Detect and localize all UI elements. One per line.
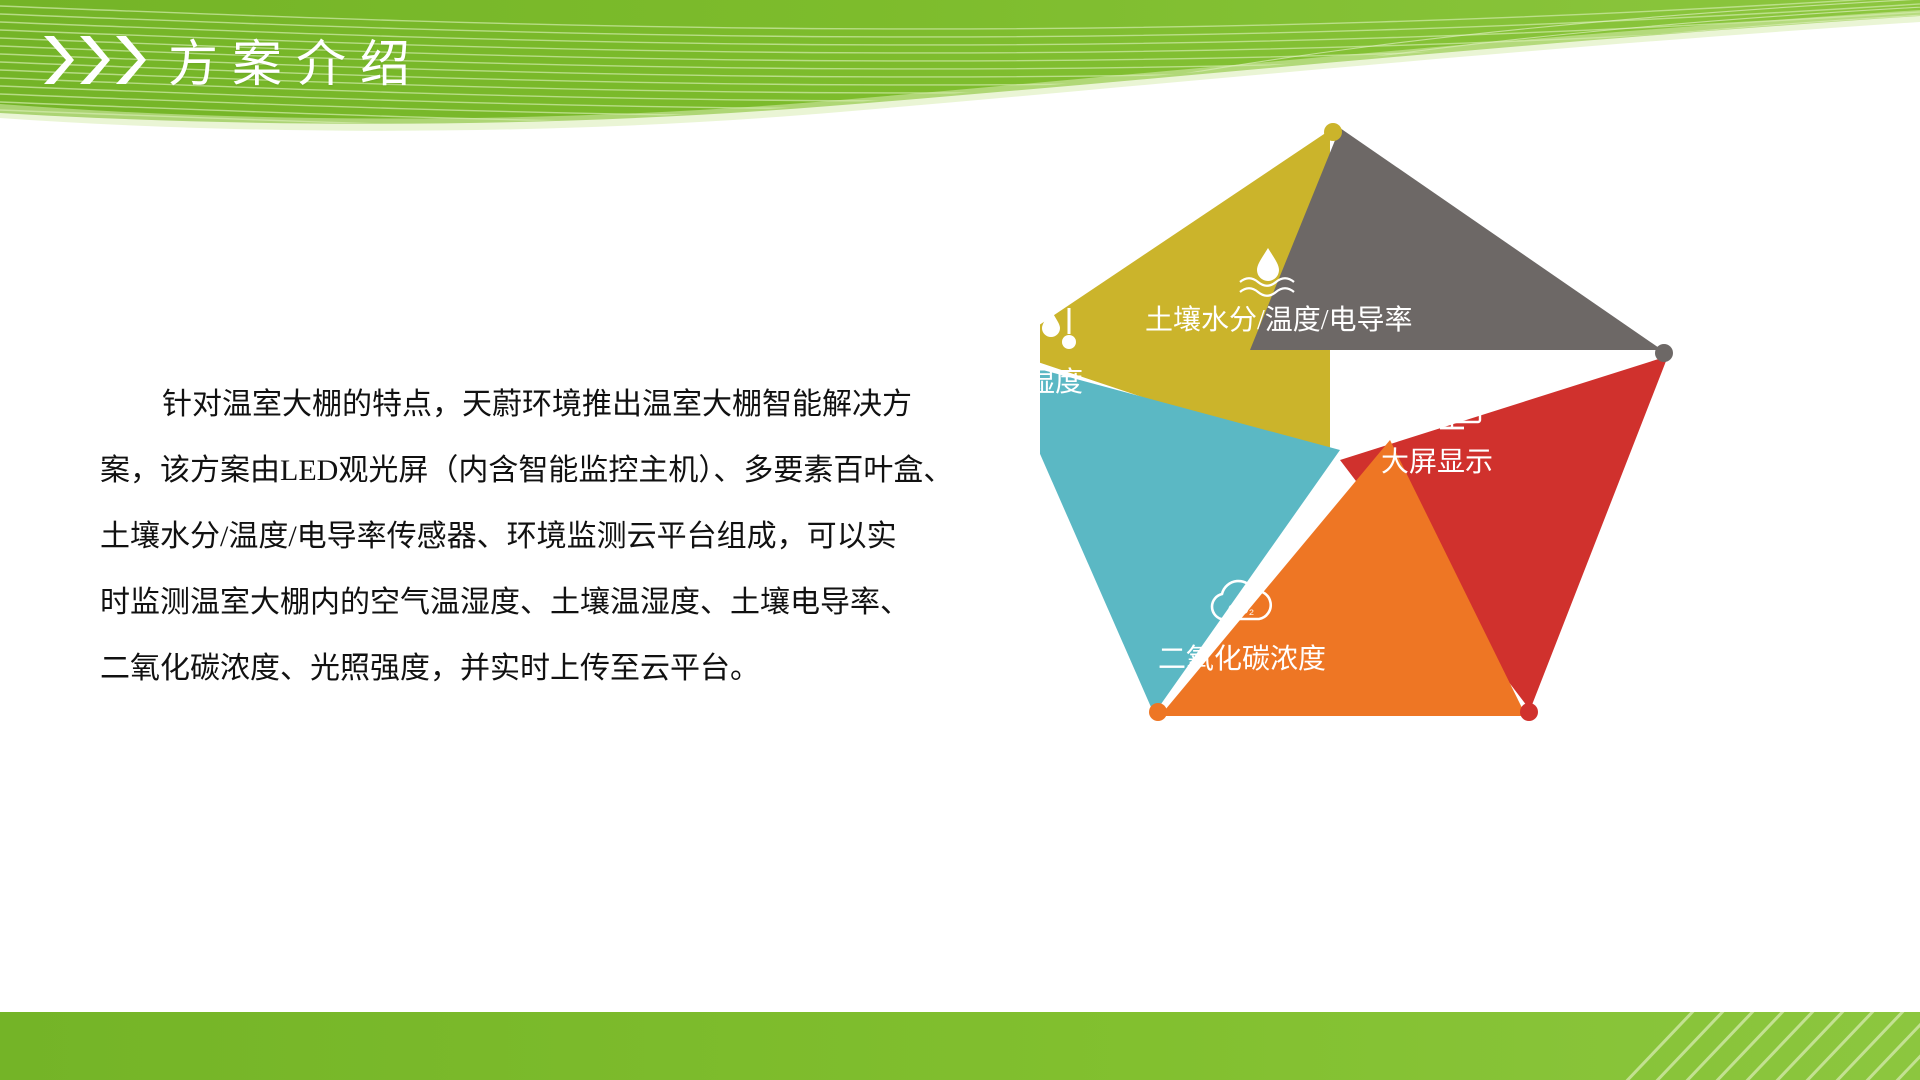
paragraph-line: 针对温室大棚的特点，天蔚环境推出温室大棚智能解决方 [100, 372, 930, 438]
pinwheel-diagram: CO₂ 土壤水分/温度/电导率 大屏显示 二氧化碳浓度 光照强度 空气温湿度 [1040, 110, 1740, 750]
paragraph-line: 二氧化碳浓度、光照强度，并实时上传至云平台。 [100, 636, 930, 702]
chevron-group [40, 34, 146, 86]
bottom-green-bar [0, 1012, 1920, 1080]
paragraph-line: 案，该方案由LED观光屏（内含智能监控主机）、多要素百叶盒、 [100, 438, 930, 504]
chevron-right-icon [40, 34, 74, 86]
paragraph-line: 土壤水分/温度/电导率传感器、环境监测云平台组成，可以实 [100, 504, 930, 570]
page-title: 方案介绍 [168, 24, 424, 96]
chevron-right-icon [112, 34, 146, 86]
chevron-right-icon [76, 34, 110, 86]
body-paragraph: 针对温室大棚的特点，天蔚环境推出温室大棚智能解决方 案，该方案由LED观光屏（内… [100, 372, 930, 702]
slide-title-block: 方案介绍 [40, 24, 424, 96]
paragraph-line: 时监测温室大棚内的空气温湿度、土壤温湿度、土壤电导率、 [100, 570, 930, 636]
